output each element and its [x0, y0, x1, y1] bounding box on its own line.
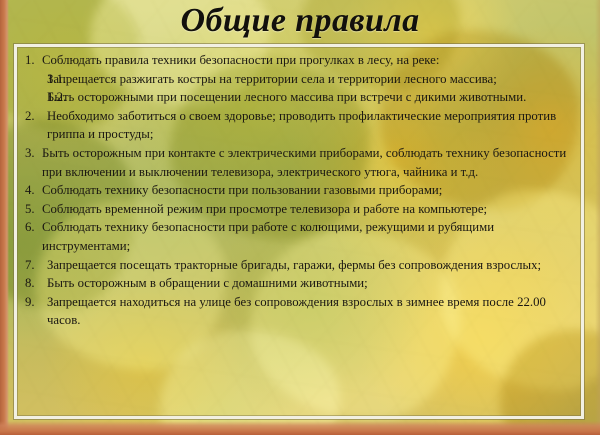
rule-text: Быть осторожным в обращении с домашними … [47, 276, 368, 290]
rule-subitem-text: Быть осторожными при посещении лесного м… [47, 90, 526, 104]
rule-subitem-number: 1.1. [47, 70, 66, 89]
rule-subitem-number: 1.2. [47, 88, 66, 107]
rule-number: 9. [25, 293, 35, 312]
rule-item: 9.Запрещается находиться на улице без со… [25, 293, 579, 330]
rule-number: 2. [25, 107, 35, 126]
rule-text: Запрещается находиться на улице без сопр… [47, 295, 546, 328]
rule-subitem: 1.2.Быть осторожными при посещении лесно… [25, 88, 579, 107]
rule-number: 6. [25, 218, 35, 237]
poster-root: Общие правила 1.Соблюдать правила техник… [0, 0, 600, 435]
rule-text: Необходимо заботиться о своем здоровье; … [47, 109, 556, 142]
rule-text: Соблюдать технику безопасности при работ… [42, 220, 494, 253]
rule-item: 3.Быть осторожным при контакте с электри… [25, 144, 579, 181]
rule-text: Соблюдать временной режим при просмотре … [42, 202, 487, 216]
rule-text: Запрещается посещать тракторные бригады,… [47, 258, 541, 272]
rule-item: 8.Быть осторожным в обращении с домашним… [25, 274, 579, 293]
rule-number: 4. [25, 181, 35, 200]
rule-text: Соблюдать технику безопасности при польз… [42, 183, 442, 197]
rule-number: 8. [25, 274, 35, 293]
rule-item: 1.Соблюдать правила техники безопасности… [25, 51, 579, 70]
rule-subitem-text: Запрещается разжигать костры на территор… [47, 72, 497, 86]
rule-text: Быть осторожным при контакте с электриче… [42, 146, 566, 179]
rule-number: 3. [25, 144, 35, 163]
bottom-edge-stripe [0, 421, 600, 435]
rule-number: 7. [25, 256, 35, 275]
rule-text: Соблюдать правила техники безопасности п… [42, 53, 439, 67]
rule-item: 7.Запрещается посещать тракторные бригад… [25, 256, 579, 275]
rule-subitem: 1.1.Запрещается разжигать костры на терр… [25, 70, 579, 89]
rule-item: 5.Соблюдать временной режим при просмотр… [25, 200, 579, 219]
left-edge-stripe [0, 0, 9, 435]
rule-number: 1. [25, 51, 35, 70]
rule-number: 5. [25, 200, 35, 219]
rules-frame: 1.Соблюдать правила техники безопасности… [14, 44, 584, 419]
rules-list: 1.Соблюдать правила техники безопасности… [25, 51, 579, 330]
right-edge-stripe [595, 0, 600, 435]
rule-item: 4.Соблюдать технику безопасности при пол… [25, 181, 579, 200]
page-title: Общие правила [0, 1, 600, 41]
rule-item: 2.Необходимо заботиться о своем здоровье… [25, 107, 579, 144]
rule-item: 6.Соблюдать технику безопасности при раб… [25, 218, 579, 255]
